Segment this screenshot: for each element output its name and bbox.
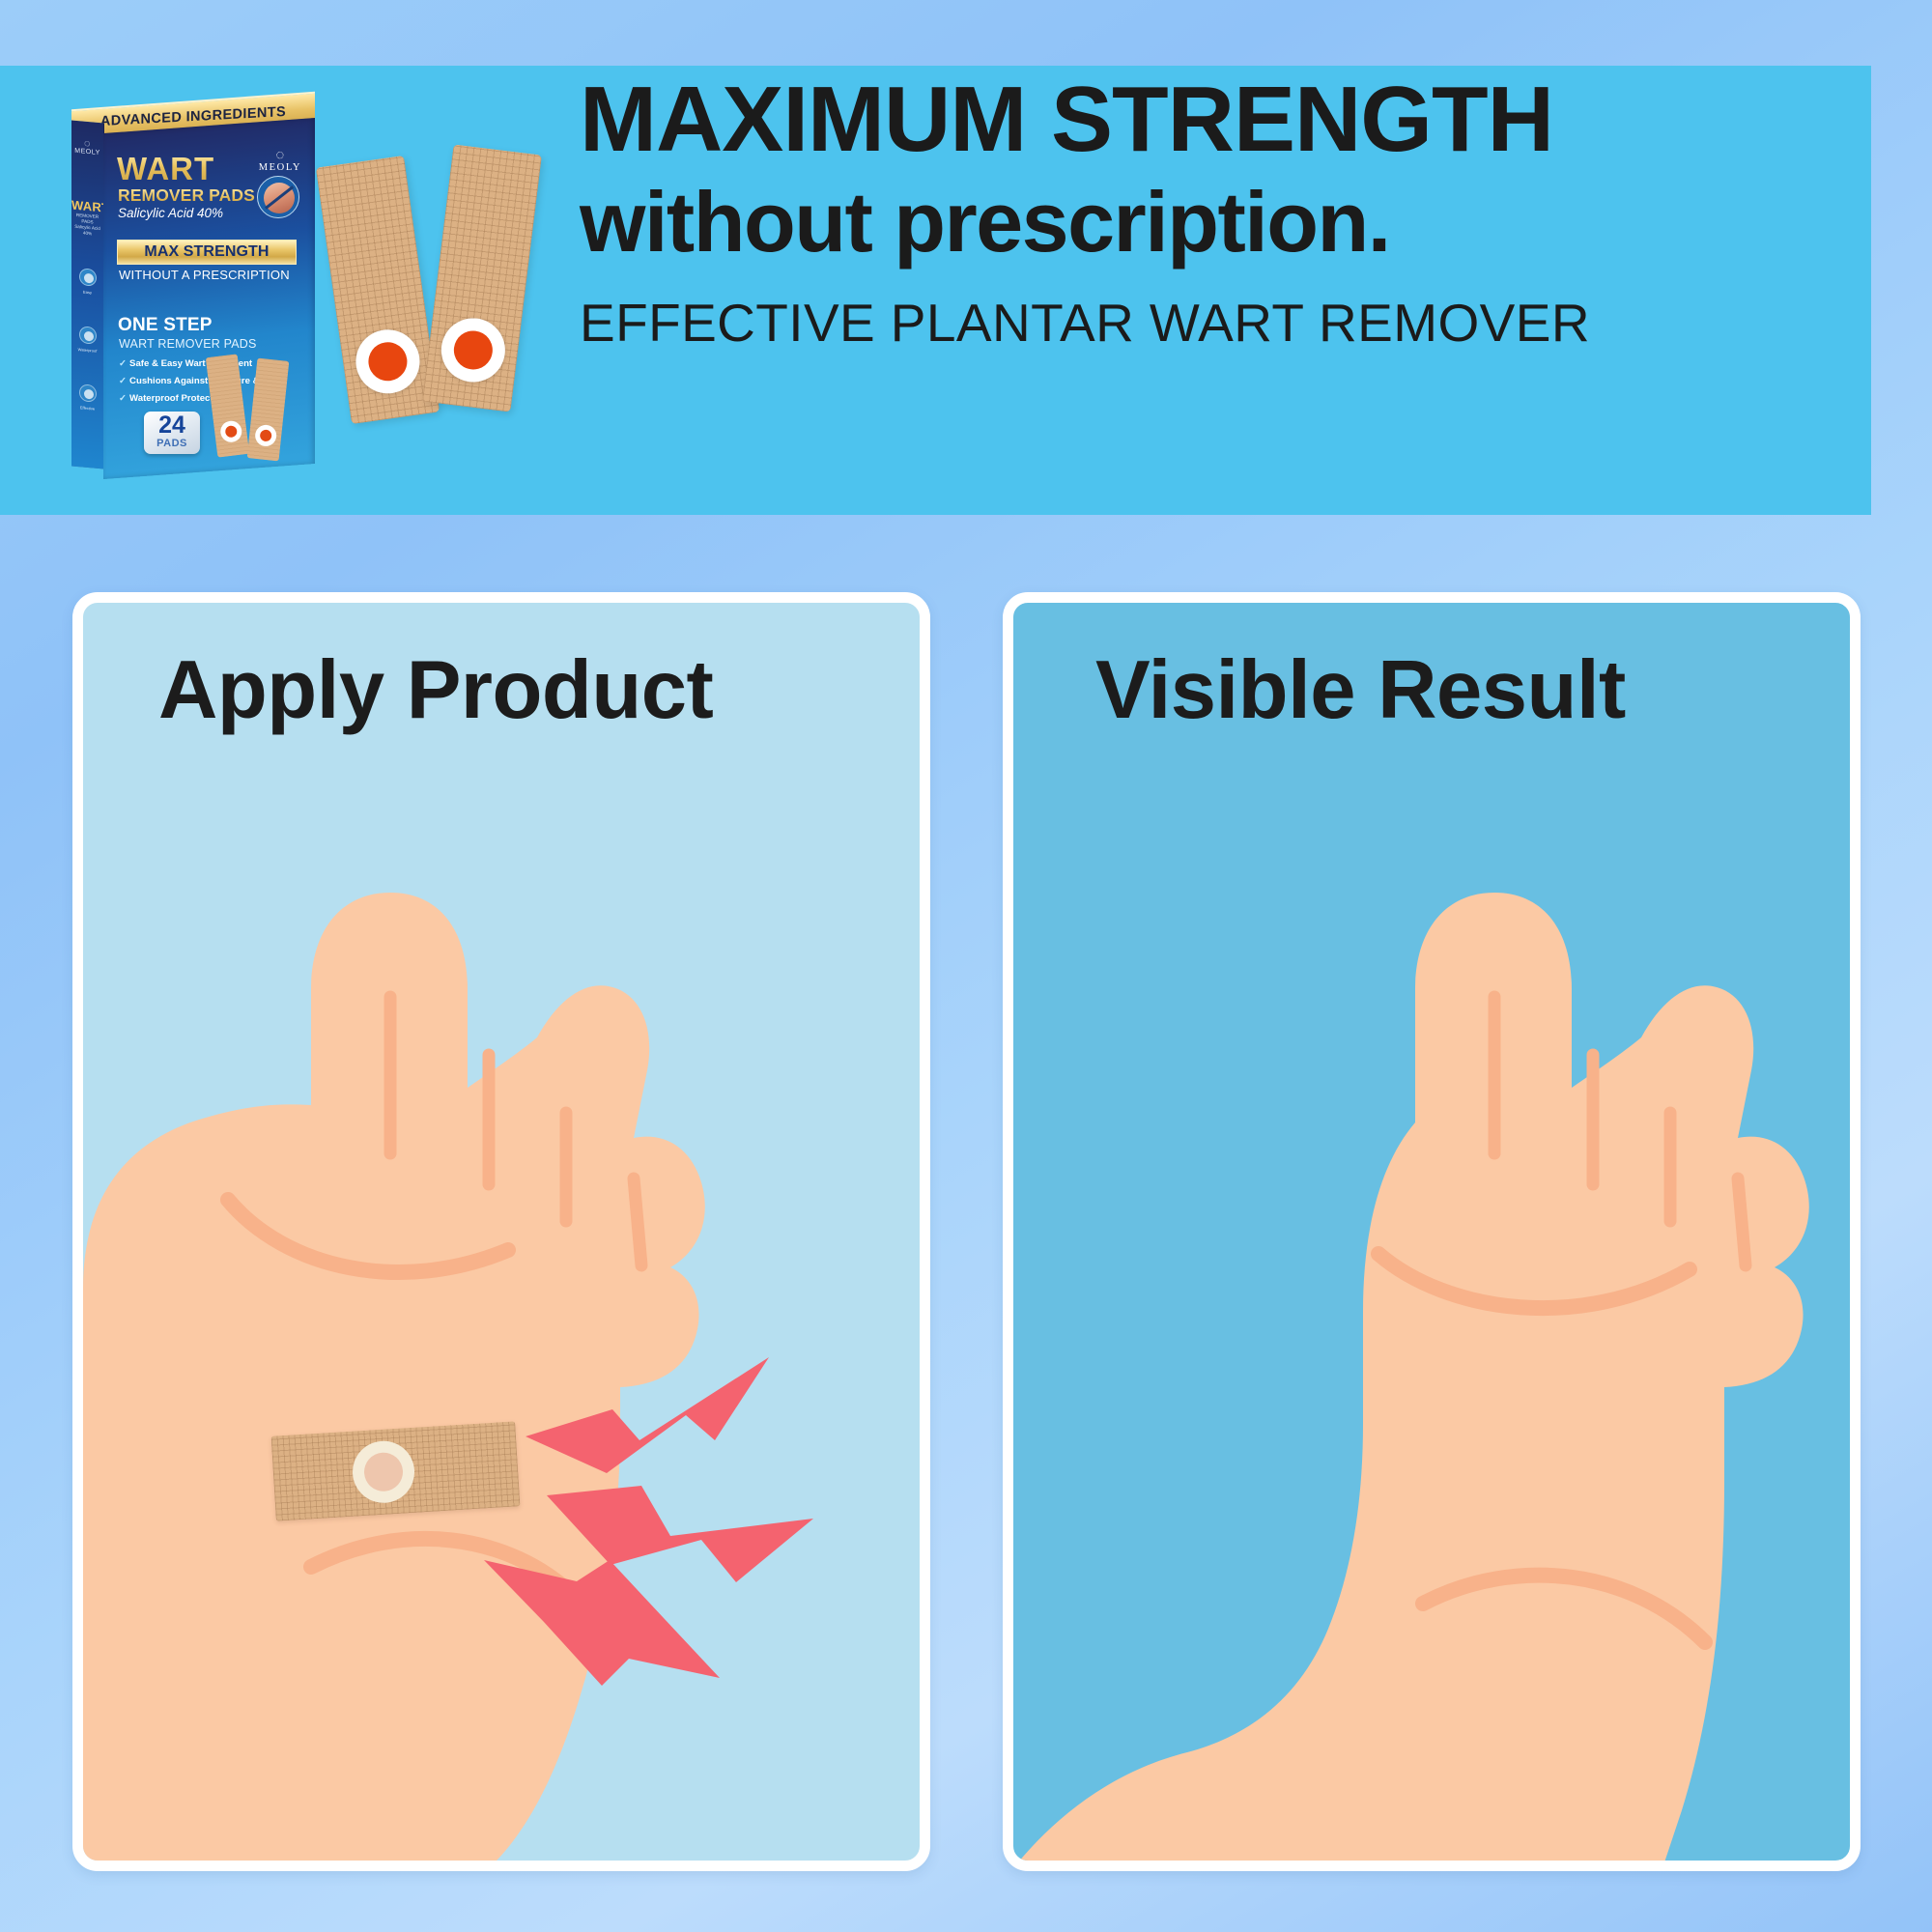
panel-apply-title: Apply Product (83, 643, 920, 738)
spine-brand-label: MEOLY (74, 148, 100, 156)
meoly-monogram-icon: ◌ (259, 149, 301, 162)
spine-subtitle: REMOVER PADS Salicylic Acid 40% (71, 213, 103, 239)
box-art-pads (212, 355, 300, 462)
wart-pad-strip (316, 156, 440, 424)
box-front-face: WART REMOVER PADS Salicylic Acid 40% ◌ M… (103, 118, 315, 479)
check-icon: ✓ (119, 358, 127, 369)
box-brand: ◌ MEOLY (259, 149, 301, 173)
spine-icon-caption-0: Easy (71, 289, 103, 297)
one-step-heading: ONE STEP (118, 315, 213, 336)
box-title: WART (117, 151, 214, 187)
clean-foot-illustration (1003, 748, 1850, 1868)
spine-icon-caption-2: Effective (71, 405, 103, 412)
pad-count-number: 24 (144, 413, 200, 438)
headline-primary: MAXIMUM STRENGTH (580, 73, 1835, 166)
max-strength-label: MAX STRENGTH (144, 243, 269, 261)
product-box-image: ADVANCED INGREDIENTS ◌MEOLY WART REMOVER… (50, 81, 330, 487)
wart-pad-strip (206, 354, 249, 457)
header-banner: ADVANCED INGREDIENTS ◌MEOLY WART REMOVER… (0, 66, 1871, 515)
box-brand-label: MEOLY (259, 162, 301, 173)
box-subtitle: REMOVER PADS (118, 185, 255, 206)
pain-indicator-icon (526, 1351, 786, 1477)
strength-note: WITHOUT A PRESCRIPTION (119, 268, 290, 282)
pain-indicator-icon (484, 1554, 725, 1690)
headline-block: MAXIMUM STRENGTH without prescription. E… (580, 73, 1835, 352)
headline-tagline: EFFECTIVE PLANTAR WART REMOVER (580, 294, 1835, 352)
panel-result-title: Visible Result (1013, 643, 1850, 738)
foot-icon (79, 326, 97, 345)
spine-icon-caption-1: Waterproof (71, 347, 103, 355)
max-strength-badge: MAX STRENGTH (117, 240, 297, 265)
wart-pad-strip (422, 144, 542, 412)
bandage-medicated-pad (351, 1439, 416, 1505)
check-icon: ✓ (119, 393, 127, 404)
one-step-subheading: WART REMOVER PADS (119, 337, 257, 351)
panel-visible-result: Visible Result (1003, 592, 1861, 1871)
pad-count-label: PADS (144, 438, 200, 449)
pad-count-badge: 24 PADS (144, 412, 200, 454)
panel-apply-product: Apply Product (72, 592, 930, 1871)
shield-icon (79, 384, 97, 403)
box-spine: ◌MEOLY WART REMOVER PADS Salicylic Acid … (71, 121, 104, 469)
headline-secondary: without prescription. (580, 172, 1835, 272)
check-icon: ✓ (119, 376, 127, 386)
bandage-pad-center (363, 1452, 404, 1492)
spine-brand-mark: ◌MEOLY (71, 138, 103, 157)
hand-care-icon (79, 268, 97, 287)
wart-pad-strip (247, 358, 290, 462)
box-active-ingredient: Salicylic Acid 40% (118, 206, 223, 220)
floating-pad-strips (333, 143, 555, 442)
bandage-pad (271, 1421, 521, 1520)
foot-with-bandage-illustration (83, 748, 920, 1868)
fast-acting-seal-icon (257, 176, 299, 218)
